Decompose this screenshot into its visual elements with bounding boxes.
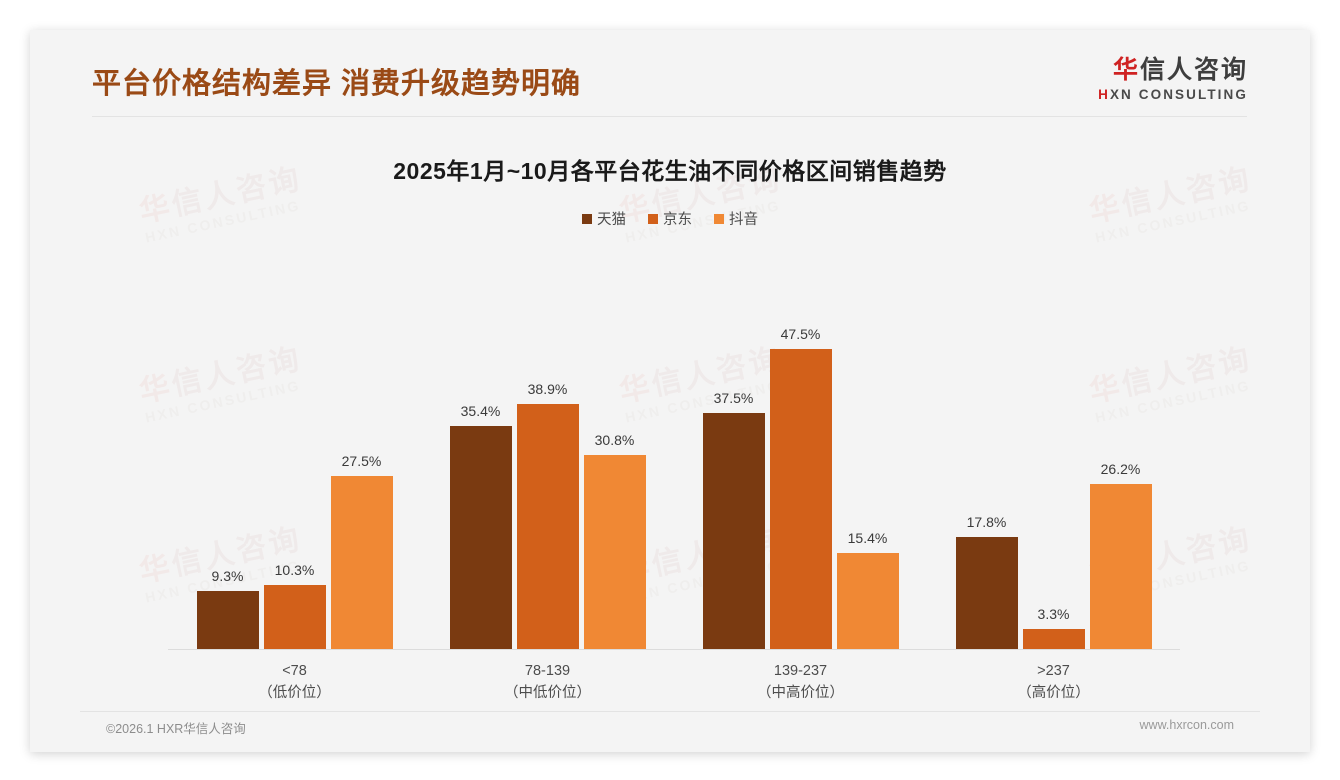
bar-slot: 27.5% <box>331 302 393 650</box>
logo-cn-rest: 信人咨询 <box>1140 56 1248 84</box>
x-tick-sublabel: （中低价位） <box>421 682 674 704</box>
header-divider <box>92 116 1247 117</box>
bar-value-label: 10.3% <box>275 562 315 578</box>
bar-slot: 9.3% <box>197 302 259 650</box>
bar[interactable] <box>517 404 579 650</box>
logo-en-h: H <box>1098 87 1110 102</box>
bar-value-label: 27.5% <box>342 453 382 469</box>
bar-value-label: 15.4% <box>848 530 888 546</box>
x-tick-0: <78（低价位） <box>168 660 421 705</box>
bar-group-0: 9.3%10.3%27.5% <box>168 302 421 650</box>
bar-groups: 9.3%10.3%27.5%35.4%38.9%30.8%37.5%47.5%1… <box>168 302 1180 650</box>
bar-value-label: 37.5% <box>714 390 754 406</box>
bar[interactable] <box>703 413 765 650</box>
slide-canvas: 华信人咨询HXN CONSULTING华信人咨询HXN CONSULTING华信… <box>30 30 1310 752</box>
x-axis-tick-labels: <78（低价位）78-139（中低价位）139-237（中高价位）>237（高价… <box>168 660 1180 705</box>
bar-value-label: 3.3% <box>1038 606 1070 622</box>
bar-value-label: 30.8% <box>595 432 635 448</box>
chart-plot-area: 9.3%10.3%27.5%35.4%38.9%30.8%37.5%47.5%1… <box>168 302 1180 650</box>
footer-copyright: ©2026.1 HXR华信人咨询 <box>106 718 246 737</box>
legend-swatch-icon <box>714 214 724 224</box>
legend-label: 抖音 <box>729 208 758 229</box>
bar[interactable] <box>331 476 393 650</box>
bar[interactable] <box>264 585 326 650</box>
bar-value-label: 38.9% <box>528 381 568 397</box>
brand-logo: 华信人咨询 HXN CONSULTING <box>1098 58 1248 102</box>
x-tick-3: >237（高价位） <box>927 660 1180 705</box>
x-axis-line <box>168 649 1180 650</box>
logo-chinese: 华信人咨询 <box>1098 58 1248 83</box>
bar-slot: 30.8% <box>584 302 646 650</box>
legend-item-0[interactable]: 天猫 <box>582 208 626 229</box>
x-tick-range: 139-237 <box>674 660 927 682</box>
footer-website[interactable]: www.hxrcon.com <box>1140 718 1234 732</box>
bar-slot: 26.2% <box>1090 302 1152 650</box>
x-tick-sublabel: （中高价位） <box>674 682 927 704</box>
chart-legend: 天猫京东抖音 <box>30 208 1310 229</box>
bar[interactable] <box>1090 484 1152 650</box>
bar-value-label: 47.5% <box>781 326 821 342</box>
bar-slot: 38.9% <box>517 302 579 650</box>
bar-slot: 3.3% <box>1023 302 1085 650</box>
chart-title: 2025年1月~10月各平台花生油不同价格区间销售趋势 <box>30 152 1310 186</box>
legend-label: 京东 <box>663 208 692 229</box>
legend-item-2[interactable]: 抖音 <box>714 208 758 229</box>
bar[interactable] <box>197 591 259 650</box>
chart-container: 2025年1月~10月各平台花生油不同价格区间销售趋势 天猫京东抖音 9.3%1… <box>30 126 1310 706</box>
bar-slot: 17.8% <box>956 302 1018 650</box>
bar[interactable] <box>837 553 899 650</box>
bar-value-label: 26.2% <box>1101 461 1141 477</box>
bar[interactable] <box>450 426 512 650</box>
legend-swatch-icon <box>648 214 658 224</box>
bar-group-2: 37.5%47.5%15.4% <box>674 302 927 650</box>
bar-value-label: 35.4% <box>461 403 501 419</box>
legend-swatch-icon <box>582 214 592 224</box>
page-title: 平台价格结构差异 消费升级趋势明确 <box>92 60 581 102</box>
legend-label: 天猫 <box>597 208 626 229</box>
bar-slot: 15.4% <box>837 302 899 650</box>
bar[interactable] <box>584 455 646 650</box>
bar-group-1: 35.4%38.9%30.8% <box>421 302 674 650</box>
slide-footer: ©2026.1 HXR华信人咨询 www.hxrcon.com <box>30 714 1310 742</box>
x-tick-range: 78-139 <box>421 660 674 682</box>
logo-english: HXN CONSULTING <box>1098 88 1248 102</box>
x-tick-sublabel: （低价位） <box>168 682 421 704</box>
x-tick-range: >237 <box>927 660 1180 682</box>
bar-slot: 10.3% <box>264 302 326 650</box>
bar-value-label: 9.3% <box>212 568 244 584</box>
logo-hua-char: 华 <box>1113 56 1140 84</box>
x-tick-1: 78-139（中低价位） <box>421 660 674 705</box>
x-tick-2: 139-237（中高价位） <box>674 660 927 705</box>
bar-slot: 47.5% <box>770 302 832 650</box>
footer-divider <box>80 711 1260 712</box>
bar-group-3: 17.8%3.3%26.2% <box>927 302 1180 650</box>
bar[interactable] <box>1023 629 1085 650</box>
legend-item-1[interactable]: 京东 <box>648 208 692 229</box>
bar-slot: 35.4% <box>450 302 512 650</box>
slide-header: 平台价格结构差异 消费升级趋势明确 华信人咨询 HXN CONSULTING <box>30 30 1310 126</box>
x-tick-range: <78 <box>168 660 421 682</box>
x-tick-sublabel: （高价位） <box>927 682 1180 704</box>
bar[interactable] <box>956 537 1018 650</box>
bar-slot: 37.5% <box>703 302 765 650</box>
logo-en-rest: XN CONSULTING <box>1110 87 1248 102</box>
bar[interactable] <box>770 349 832 650</box>
bar-value-label: 17.8% <box>967 514 1007 530</box>
